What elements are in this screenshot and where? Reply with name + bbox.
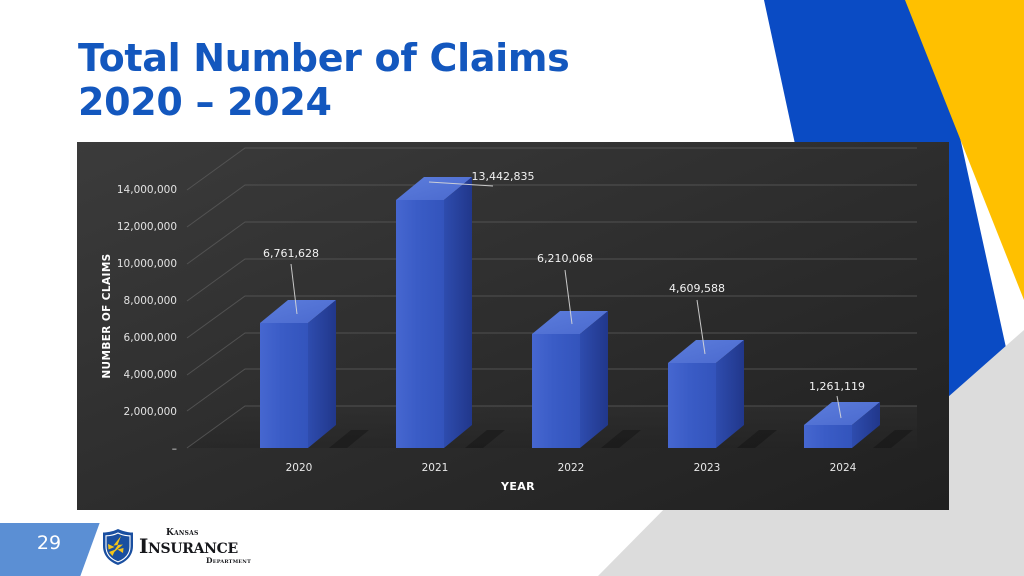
x-tick-label-2022: 2022 <box>526 462 616 474</box>
data-label-2021: 13,442,835 <box>443 170 563 183</box>
slide-number: 29 <box>28 532 70 554</box>
y-tick-label-zero: – <box>97 443 177 455</box>
bar-2020[interactable] <box>260 300 336 448</box>
title-line-2: 2020 – 2024 <box>78 80 698 124</box>
slide-canvas: Total Number of Claims 2020 – 2024 <box>0 0 1024 576</box>
x-tick-label-2023: 2023 <box>662 462 752 474</box>
chart-panel: 14,000,000 12,000,000 10,000,000 8,000,0… <box>77 142 949 510</box>
data-label-2023: 4,609,588 <box>637 282 757 295</box>
kansas-insurance-department-logo: Kansas Insurance Department <box>101 524 251 570</box>
x-tick-label-2020: 2020 <box>254 462 344 474</box>
logo-wordmark: Kansas Insurance Department <box>139 527 251 567</box>
shield-icon <box>101 528 135 566</box>
bar-2022[interactable] <box>532 311 608 448</box>
logo-insurance-text: Insurance <box>139 535 238 557</box>
title-line-1: Total Number of Claims <box>78 36 698 80</box>
bar-2023[interactable] <box>668 340 744 448</box>
data-label-2022: 6,210,068 <box>505 252 625 265</box>
y-tick-label: 2,000,000 <box>97 406 177 418</box>
data-label-2020: 6,761,628 <box>231 247 351 260</box>
page-title: Total Number of Claims 2020 – 2024 <box>78 36 698 124</box>
x-tick-label-2021: 2021 <box>390 462 480 474</box>
x-axis-title: YEAR <box>463 480 573 493</box>
y-tick-label: 12,000,000 <box>97 221 177 233</box>
y-axis-title: NUMBER OF CLAIMS <box>101 236 113 396</box>
bar-2021[interactable] <box>396 177 472 448</box>
logo-department-text: Department <box>206 556 251 565</box>
data-label-2024: 1,261,119 <box>777 380 897 393</box>
y-tick-label: 14,000,000 <box>97 184 177 196</box>
bar-chart-3d <box>77 142 949 510</box>
x-tick-label-2024: 2024 <box>798 462 888 474</box>
